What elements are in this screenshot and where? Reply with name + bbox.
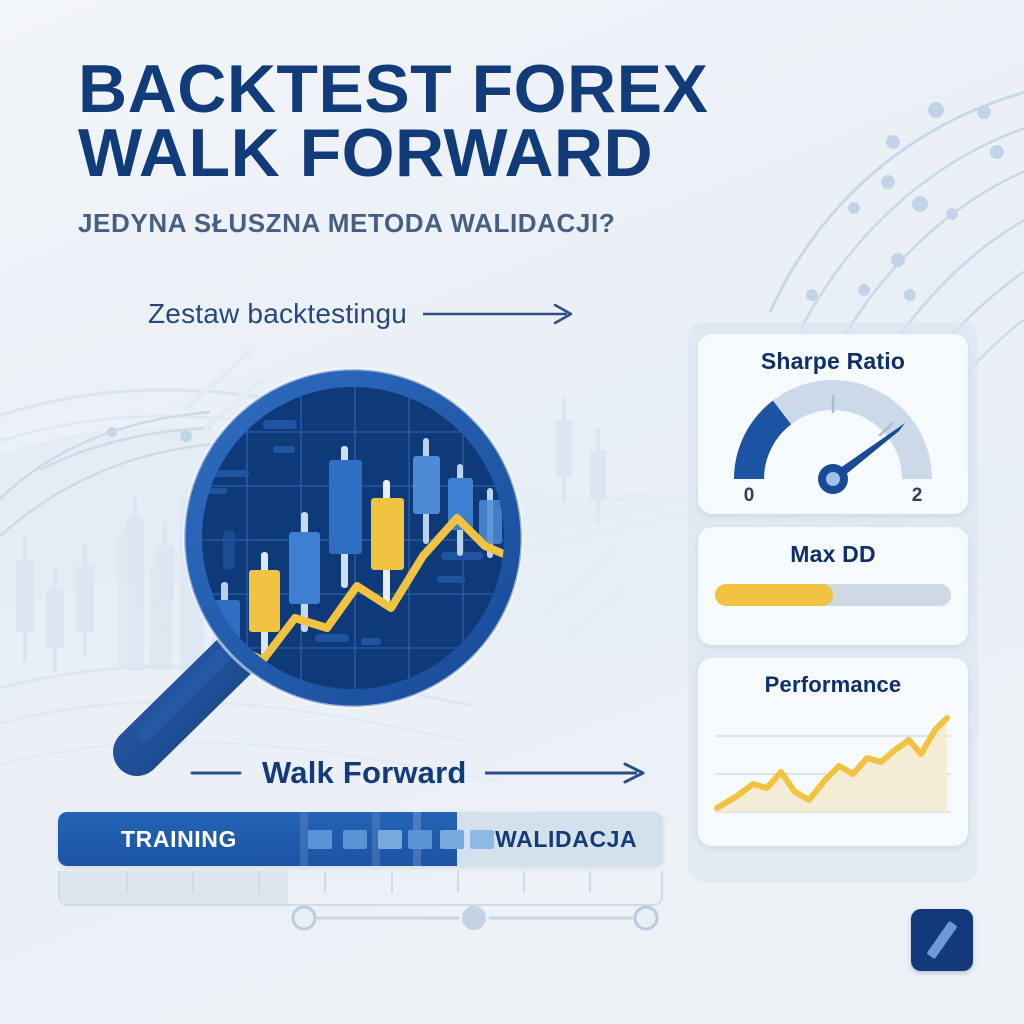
transition-blocks bbox=[300, 812, 457, 866]
gauge-max-label: 2 bbox=[912, 485, 923, 503]
magnifier-icon bbox=[105, 360, 535, 790]
infographic-canvas: BACKTEST FOREX WALK FORWARD JEDYNA SŁUSZ… bbox=[0, 0, 1024, 1024]
validation-label: WALIDACJA bbox=[469, 812, 663, 866]
timeline-marker[interactable] bbox=[462, 906, 486, 930]
chart-area-fill bbox=[717, 718, 947, 812]
max-dd-track[interactable] bbox=[715, 584, 951, 606]
page-subtitle: JEDYNA SŁUSZNA METODA WALIDACJI? bbox=[78, 208, 878, 239]
max-dd-fill bbox=[715, 584, 833, 606]
walk-forward-track[interactable]: TRAINING WALIDACJA bbox=[58, 812, 663, 866]
gauge-fill bbox=[749, 413, 782, 480]
card-performance[interactable]: Performance bbox=[698, 658, 968, 846]
timeline-marker[interactable] bbox=[293, 907, 315, 929]
training-label: TRAINING bbox=[58, 812, 300, 866]
card-title-performance: Performance bbox=[698, 658, 968, 698]
performance-chart bbox=[709, 700, 957, 828]
walk-forward-label: Walk Forward bbox=[262, 755, 467, 791]
timeline-markers bbox=[290, 905, 660, 931]
walk-forward-ruler bbox=[58, 871, 663, 906]
walk-forward-bar: TRAINING WALIDACJA bbox=[58, 812, 663, 906]
metrics-panel: Sharpe Ratio 0 bbox=[688, 322, 978, 882]
arrow-right-icon bbox=[421, 301, 581, 327]
line-dash-icon bbox=[190, 763, 246, 783]
timeline-marker[interactable] bbox=[635, 907, 657, 929]
brand-logo[interactable] bbox=[911, 909, 973, 971]
card-sharpe-ratio[interactable]: Sharpe Ratio 0 bbox=[698, 334, 968, 514]
zestaw-backtestingu-row: Zestaw backtestingu bbox=[148, 298, 581, 330]
title-line-1: BACKTEST FOREX bbox=[78, 58, 878, 122]
gauge-needle bbox=[818, 423, 905, 494]
card-title-maxdd: Max DD bbox=[698, 527, 968, 568]
zestaw-label: Zestaw backtestingu bbox=[148, 298, 407, 330]
gauge-sharpe-ratio: 0 2 bbox=[723, 379, 943, 503]
diagonal-slash-icon bbox=[926, 921, 957, 960]
page-title: BACKTEST FOREX WALK FORWARD JEDYNA SŁUSZ… bbox=[78, 58, 878, 239]
arrow-right-icon bbox=[483, 762, 653, 784]
title-line-2: WALK FORWARD bbox=[78, 122, 878, 186]
walk-forward-row: Walk Forward bbox=[190, 755, 653, 791]
card-max-dd[interactable]: Max DD bbox=[698, 527, 968, 645]
gauge-min-label: 0 bbox=[744, 485, 755, 503]
card-title-sharpe: Sharpe Ratio bbox=[698, 334, 968, 375]
